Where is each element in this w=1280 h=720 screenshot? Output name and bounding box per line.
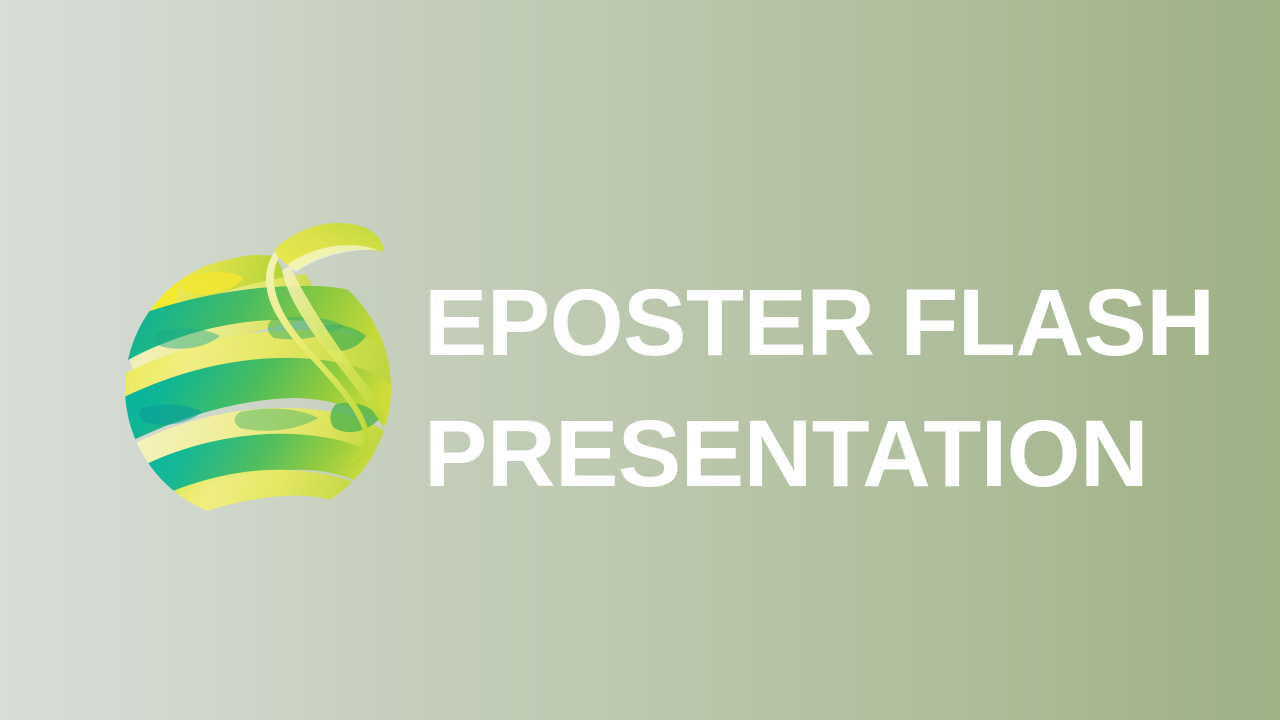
globe-leaf-icon <box>122 208 394 514</box>
slide-title-line-2: PRESENTATION <box>424 389 1224 520</box>
slide-title-line-1: EPOSTER FLASH <box>424 258 1224 389</box>
slide-canvas: EPOSTER FLASH PRESENTATION <box>0 0 1280 720</box>
leaf-icon <box>274 223 384 272</box>
slide-content: EPOSTER FLASH PRESENTATION <box>0 0 1280 720</box>
globe-leaf-logo <box>122 208 394 514</box>
globe-body <box>122 230 394 514</box>
slide-title-block: EPOSTER FLASH PRESENTATION <box>424 258 1224 520</box>
